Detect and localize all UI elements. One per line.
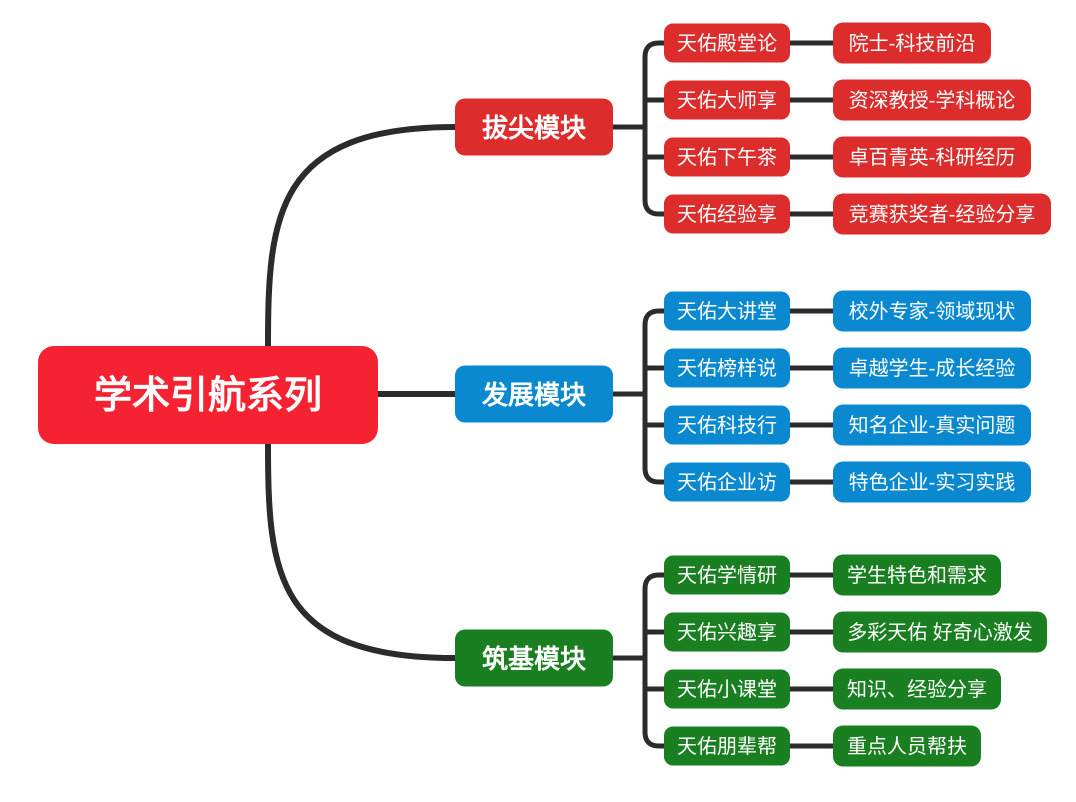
leaf-node-2-2[interactable]: 知识、经验分享 <box>833 669 1001 710</box>
sub-node-0-2-label: 天佑下午茶 <box>677 146 777 169</box>
sub-node-1-2[interactable]: 天佑科技行 <box>664 406 790 445</box>
sub-node-1-3-label: 天佑企业访 <box>677 471 777 494</box>
leaf-node-0-1-label: 资深教授-学科概论 <box>849 89 1016 112</box>
trunk-to-child-connector <box>645 311 664 325</box>
sub-node-0-2[interactable]: 天佑下午茶 <box>664 138 790 177</box>
branch-node-2[interactable]: 筑基模块 <box>455 630 613 687</box>
sub-node-2-3-label: 天佑朋辈帮 <box>677 735 777 758</box>
sub-node-2-1-label: 天佑兴趣享 <box>677 621 777 644</box>
leaf-node-2-3[interactable]: 重点人员帮扶 <box>833 726 981 767</box>
trunk-to-child-connector <box>645 732 664 746</box>
leaf-node-0-3[interactable]: 竞赛获奖者-经验分享 <box>833 194 1051 235</box>
branch-node-1[interactable]: 发展模块 <box>455 366 613 423</box>
leaf-node-1-2-label: 知名企业-真实问题 <box>849 414 1016 437</box>
leaf-node-0-0[interactable]: 院士-科技前沿 <box>833 23 991 64</box>
mind-map-svg: 学术引航系列拔尖模块天佑殿堂论院士-科技前沿天佑大师享资深教授-学科概论天佑下午… <box>0 0 1076 802</box>
leaf-node-1-2[interactable]: 知名企业-真实问题 <box>833 405 1031 446</box>
leaf-node-0-3-label: 竞赛获奖者-经验分享 <box>849 203 1036 226</box>
leaf-node-2-3-label: 重点人员帮扶 <box>847 735 967 758</box>
sub-node-2-2[interactable]: 天佑小课堂 <box>664 670 790 709</box>
branch-node-0[interactable]: 拔尖模块 <box>455 99 613 156</box>
mind-map-canvas: 学术引航系列拔尖模块天佑殿堂论院士-科技前沿天佑大师享资深教授-学科概论天佑下午… <box>0 0 1076 802</box>
leaf-node-0-1[interactable]: 资深教授-学科概论 <box>833 80 1031 121</box>
leaf-node-2-1[interactable]: 多彩天佑 好奇心激发 <box>833 612 1047 653</box>
sub-node-1-0[interactable]: 天佑大讲堂 <box>664 292 790 331</box>
sub-node-0-3[interactable]: 天佑经验享 <box>664 195 790 234</box>
leaf-node-2-0-label: 学生特色和需求 <box>847 564 987 587</box>
sub-node-0-1-label: 天佑大师享 <box>677 89 777 112</box>
sub-node-0-0[interactable]: 天佑殿堂论 <box>664 24 790 63</box>
root-to-branch-connector <box>268 127 455 346</box>
branch-node-1-label: 发展模块 <box>481 380 586 410</box>
leaf-node-1-1-label: 卓越学生-成长经验 <box>849 357 1016 380</box>
trunk-to-child-connector <box>645 43 664 57</box>
root-node-label: 学术引航系列 <box>94 374 322 417</box>
sub-node-2-0-label: 天佑学情研 <box>677 564 777 587</box>
leaf-node-0-2-label: 卓百青英-科研经历 <box>849 146 1016 169</box>
trunk-to-child-connector <box>645 575 664 589</box>
leaf-node-2-1-label: 多彩天佑 好奇心激发 <box>847 621 1033 644</box>
sub-node-1-1[interactable]: 天佑榜样说 <box>664 349 790 388</box>
nodes-layer: 学术引航系列拔尖模块天佑殿堂论院士-科技前沿天佑大师享资深教授-学科概论天佑下午… <box>38 23 1051 767</box>
leaf-node-1-1[interactable]: 卓越学生-成长经验 <box>833 348 1031 389</box>
leaf-node-1-0[interactable]: 校外专家-领域现状 <box>833 291 1031 332</box>
leaf-node-1-0-label: 校外专家-领域现状 <box>849 300 1016 323</box>
branch-node-0-label: 拔尖模块 <box>482 113 586 143</box>
root-node[interactable]: 学术引航系列 <box>38 346 378 444</box>
branch-node-2-label: 筑基模块 <box>482 644 586 674</box>
sub-node-1-2-label: 天佑科技行 <box>677 414 777 437</box>
sub-node-2-3[interactable]: 天佑朋辈帮 <box>664 727 790 766</box>
leaf-node-0-2[interactable]: 卓百青英-科研经历 <box>833 137 1031 178</box>
leaf-node-0-0-label: 院士-科技前沿 <box>849 32 976 55</box>
root-to-branch-connector <box>268 444 455 658</box>
sub-node-1-1-label: 天佑榜样说 <box>677 357 777 380</box>
trunk-to-child-connector <box>645 200 664 214</box>
leaf-node-2-2-label: 知识、经验分享 <box>847 678 987 701</box>
sub-node-0-0-label: 天佑殿堂论 <box>677 32 777 55</box>
sub-node-2-2-label: 天佑小课堂 <box>677 678 777 701</box>
sub-node-2-0[interactable]: 天佑学情研 <box>664 556 790 595</box>
sub-node-1-3[interactable]: 天佑企业访 <box>664 463 790 502</box>
leaf-node-2-0[interactable]: 学生特色和需求 <box>833 555 1001 596</box>
leaf-node-1-3[interactable]: 特色企业-实习实践 <box>833 462 1031 503</box>
sub-node-2-1[interactable]: 天佑兴趣享 <box>664 613 790 652</box>
sub-node-1-0-label: 天佑大讲堂 <box>677 300 777 323</box>
trunk-to-child-connector <box>645 468 664 482</box>
sub-node-0-3-label: 天佑经验享 <box>677 203 777 226</box>
leaf-node-1-3-label: 特色企业-实习实践 <box>849 471 1016 494</box>
sub-node-0-1[interactable]: 天佑大师享 <box>664 81 790 120</box>
